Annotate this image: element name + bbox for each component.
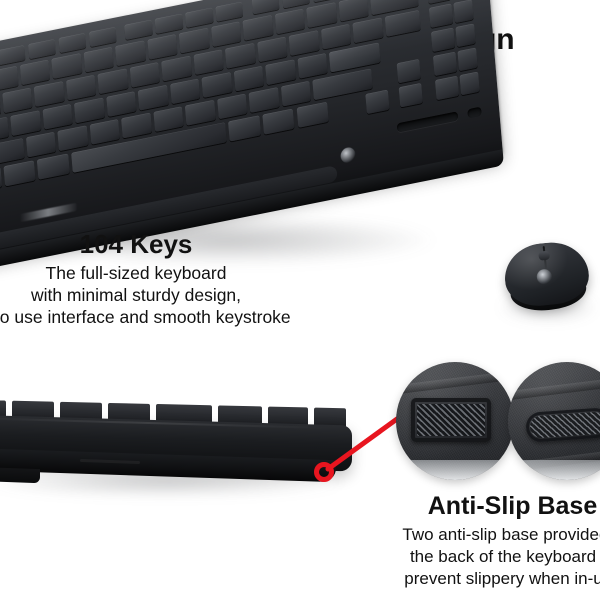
feature-keys-heading: 104 Keys [0, 230, 306, 259]
anti-slip-pad-oval [525, 407, 600, 443]
product-infographic: Ergonomic Keyboard Design Ideal for your… [0, 0, 600, 600]
mouse-scroll-wheel [538, 251, 550, 261]
feature-keys-line-3: y to use interface and smooth keystroke [0, 306, 306, 328]
detail-circle-oval-pad [508, 362, 600, 480]
feature-anti-slip-line-1: Two anti-slip base provided a [390, 524, 600, 546]
feature-block-keys: 104 Keys The full-sized keyboard with mi… [0, 230, 306, 328]
detail-1-surface-floor [396, 460, 514, 480]
feature-anti-slip-line-3: prevent slippery when in-use [390, 568, 600, 590]
hero-mouse-image [502, 239, 593, 317]
feature-keys-line-2: with minimal sturdy design, [0, 284, 306, 306]
anti-slip-pad-stitch-pattern [529, 411, 600, 438]
feature-anti-slip-line-2: the back of the keyboard to [390, 546, 600, 568]
detail-2-surface-floor [508, 460, 600, 480]
side-keyboard-image [0, 398, 360, 498]
anti-slip-pad-rectangular [411, 398, 491, 442]
hero-keyboard-image [0, 0, 503, 266]
anti-slip-pad-hatch-pattern [417, 404, 485, 436]
detail-circle-rect-pad [396, 362, 514, 480]
feature-keys-line-1: The full-sized keyboard [0, 262, 306, 284]
feature-block-anti-slip: Anti-Slip Base Two anti-slip base provid… [390, 492, 600, 590]
side-keyboard-foot [0, 467, 40, 483]
feature-anti-slip-heading: Anti-Slip Base [390, 492, 600, 520]
mouse-emblem-icon [536, 269, 552, 285]
